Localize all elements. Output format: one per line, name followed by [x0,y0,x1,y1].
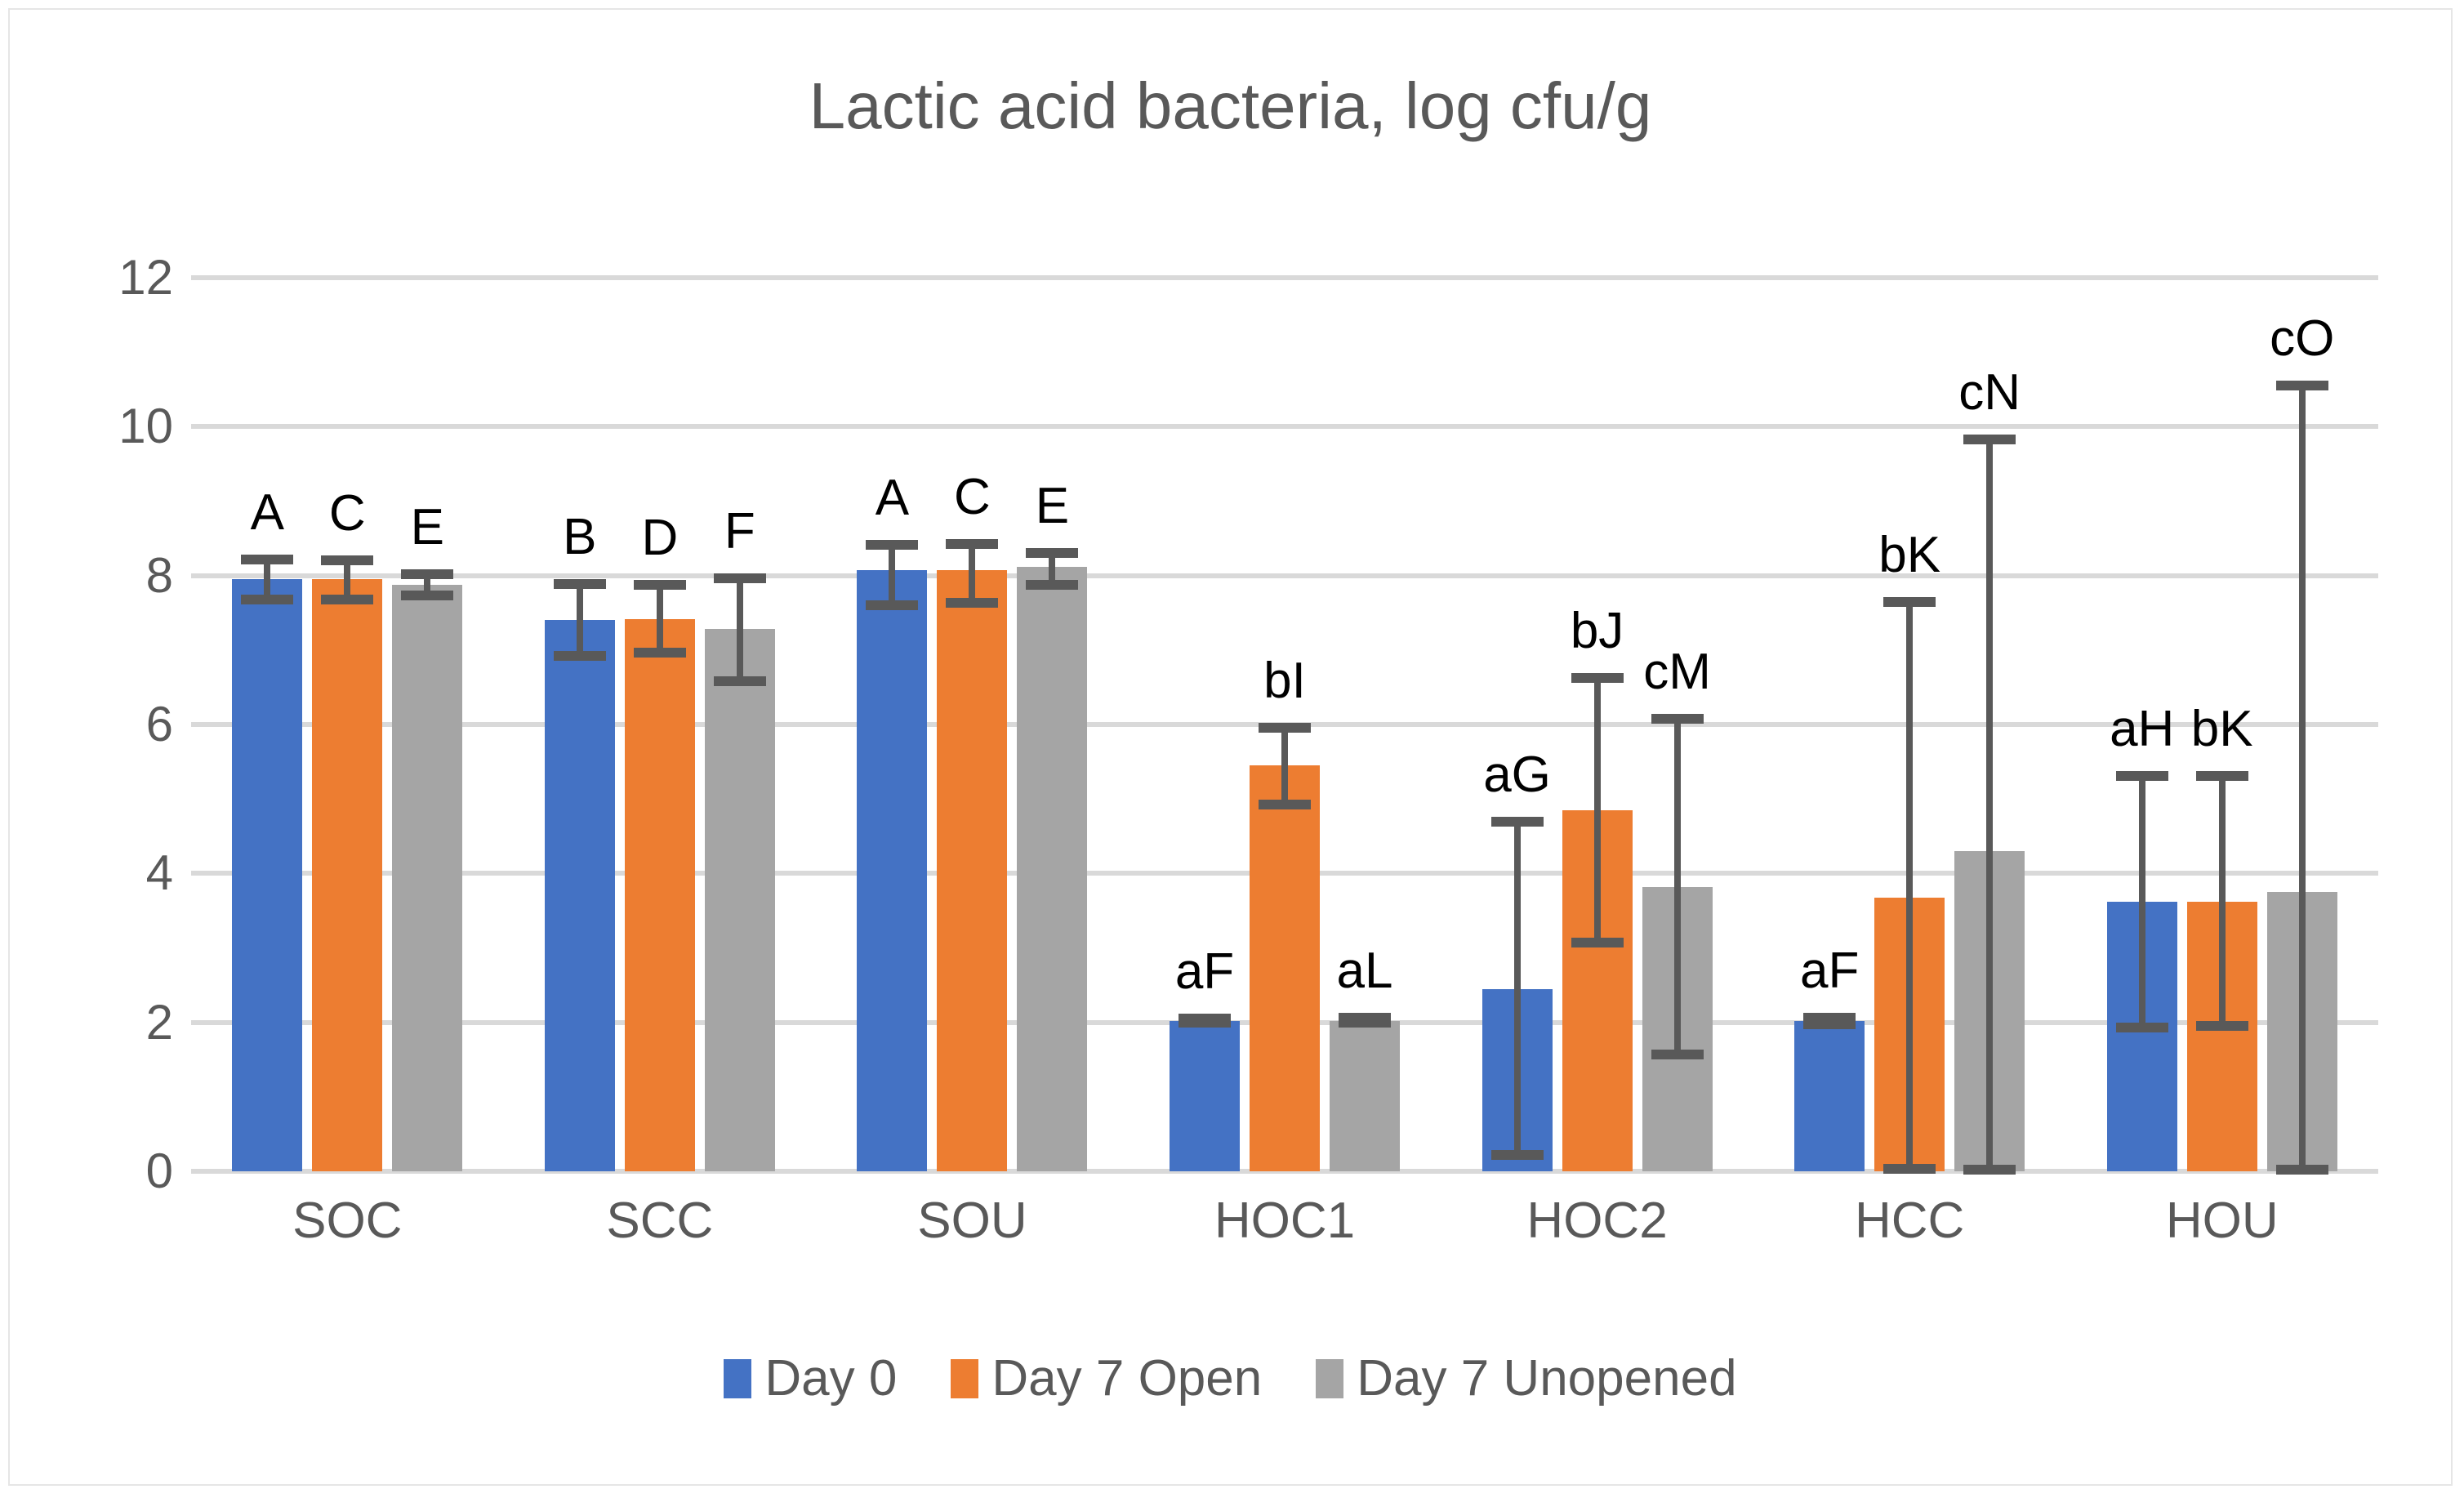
x-tick-label-HOC2: HOC2 [1526,1196,1667,1246]
error-bar-HCC-day-0 [1794,1018,1865,1171]
error-bar-SCC-day-7-unopened [705,578,775,1171]
annotation-SCC-day-7-open: D [641,513,678,564]
error-bar-stem [657,585,663,653]
x-tick-label-SCC: SCC [606,1196,713,1246]
annotation-HOU-day-0: aH [2110,704,2174,755]
error-bar-stem [1906,602,1913,1170]
error-bar-cap-upper [1963,435,2016,444]
annotation-HOC1-day-7-unopened: aL [1337,946,1393,996]
legend-item-day-0[interactable]: Day 0 [724,1353,897,1404]
error-bar-SOC-day-0 [232,560,302,1171]
y-tick-label-6: 6 [10,700,173,749]
error-bar-cap-upper [1651,714,1704,724]
error-bar-HOC1-day-7-unopened [1330,1018,1400,1171]
annotation-HOU-day-7-unopened: cO [2270,314,2334,364]
error-bar-cap-lower [2276,1165,2328,1175]
error-bar-cap-upper [2276,381,2328,390]
annotation-SOU-day-7-open: C [954,472,991,523]
legend-label: Day 7 Unopened [1357,1353,1736,1404]
error-bar-stem [969,544,975,602]
error-bar-cap-upper [946,539,998,549]
legend-swatch-icon [1316,1359,1343,1398]
y-tick-label-2: 2 [10,998,173,1047]
y-axis-labels: 024681012 [10,10,173,1507]
error-bar-stem [1281,728,1288,805]
error-bar-cap-lower [1491,1150,1544,1160]
error-bar-cap-upper [1026,548,1078,558]
error-bar-SOU-day-7-unopened [1017,553,1087,1171]
error-bar-HOU-day-0 [2107,776,2177,1171]
error-bar-cap-lower [321,595,373,604]
y-tick-label-12: 12 [10,253,173,302]
error-bar-cap-lower [1026,580,1078,590]
error-bar-SCC-day-7-open [625,585,695,1171]
annotation-SCC-day-7-unopened: F [724,506,755,557]
error-bar-cap-lower [714,676,766,686]
error-bar-cap-upper [634,580,686,590]
x-tick-label-HOU: HOU [2166,1196,2279,1246]
error-bar-stem [2299,386,2306,1170]
chart-title: Lactic acid bacteria, log cfu/g [10,69,2451,144]
error-bar-stem [1594,678,1601,943]
error-bar-cap-lower [2116,1023,2168,1032]
y-tick-label-10: 10 [10,402,173,451]
error-bar-cap-lower [1339,1018,1391,1028]
error-bar-cap-upper [714,573,766,583]
error-bar-cap-lower [1651,1050,1704,1059]
chart-container: Lactic acid bacteria, log cfu/g 02468101… [8,8,2453,1486]
annotation-SOU-day-7-unopened: E [1036,481,1069,532]
legend-label: Day 0 [764,1353,897,1404]
error-bar-HOC1-day-7-open [1250,728,1320,1171]
y-tick-label-0: 0 [10,1147,173,1196]
error-bar-stem [737,578,743,681]
error-bar-cap-upper [241,555,293,564]
error-bar-cap-upper [554,579,606,589]
gridline-10 [191,424,2378,429]
annotation-SOC-day-7-unopened: E [411,502,444,553]
error-bar-cap-upper [401,569,453,579]
error-bar-cap-upper [1491,817,1544,827]
annotation-HOC2-day-0: aG [1483,750,1551,800]
error-bar-SOC-day-7-unopened [392,574,462,1171]
x-tick-label-SOC: SOC [292,1196,402,1246]
error-bar-HOC2-day-7-open [1562,678,1633,1171]
annotation-HOU-day-7-open: bK [2191,704,2253,755]
error-bar-stem [1514,822,1521,1155]
annotation-HCC-day-7-unopened: cN [1958,368,2021,418]
error-bar-cap-lower [1259,800,1311,809]
annotation-HCC-day-0: aF [1800,946,1859,996]
error-bar-stem [344,560,350,599]
annotation-HOC1-day-0: aF [1175,947,1234,997]
error-bar-HCC-day-7-open [1874,602,1945,1171]
annotation-HOC2-day-7-open: bJ [1571,606,1624,657]
error-bar-cap-upper [1259,723,1311,733]
error-bar-HOC1-day-0 [1170,1019,1240,1171]
error-bar-cap-upper [2116,771,2168,781]
error-bar-cap-lower [1179,1018,1231,1028]
error-bar-HOC2-day-7-unopened [1642,719,1713,1171]
legend-swatch-icon [724,1359,751,1398]
y-tick-label-8: 8 [10,551,173,600]
y-tick-label-4: 4 [10,849,173,898]
annotation-SOC-day-7-open: C [329,488,366,539]
error-bar-stem [2219,776,2226,1026]
error-bar-cap-lower [1963,1165,2016,1175]
error-bar-cap-lower [866,600,918,610]
x-tick-label-HOC1: HOC1 [1214,1196,1355,1246]
annotation-SOC-day-0: A [251,488,284,538]
plot-area: ACEBDFACEaFbIaLaGbJcMaFbKcNaHbKcO [191,278,2378,1171]
error-bar-cap-lower [401,591,453,600]
error-bar-HOU-day-7-unopened [2267,386,2337,1171]
x-tick-label-HCC: HCC [1855,1196,1964,1246]
error-bar-SOU-day-7-open [937,544,1007,1171]
error-bar-cap-upper [1571,673,1624,683]
error-bar-cap-lower [1803,1019,1856,1029]
legend-label: Day 7 Open [991,1353,1262,1404]
error-bar-HOU-day-7-open [2187,776,2257,1171]
error-bar-SOU-day-0 [857,545,927,1171]
x-axis-labels: SOCSCCSOUHOC1HOC2HCCHOU [191,1196,2378,1269]
gridline-8 [191,573,2378,578]
annotation-HCC-day-7-open: bK [1878,530,1940,581]
error-bar-stem [1674,719,1681,1054]
annotation-SOU-day-0: A [876,473,909,524]
error-bar-cap-lower [946,598,998,608]
error-bar-stem [264,560,270,600]
error-bar-HOC2-day-0 [1482,822,1553,1171]
error-bar-SCC-day-0 [545,584,615,1171]
error-bar-cap-lower [1571,938,1624,947]
error-bar-SOC-day-7-open [312,560,382,1171]
legend-item-day-7-open[interactable]: Day 7 Open [951,1353,1262,1404]
error-bar-stem [889,545,895,605]
legend-item-day-7-unopened[interactable]: Day 7 Unopened [1316,1353,1736,1404]
error-bar-HCC-day-7-unopened [1954,439,2025,1171]
error-bar-stem [1986,439,1993,1170]
x-tick-label-SOU: SOU [917,1196,1027,1246]
chart-legend: Day 0Day 7 OpenDay 7 Unopened [10,1353,2451,1404]
gridline-12 [191,275,2378,280]
error-bar-stem [577,584,583,656]
annotation-SCC-day-0: B [563,512,596,563]
annotation-HOC1-day-7-open: bI [1263,656,1306,707]
annotation-HOC2-day-7-unopened: cM [1643,647,1711,698]
error-bar-cap-lower [1883,1164,1936,1174]
error-bar-cap-lower [634,648,686,658]
error-bar-cap-upper [866,540,918,550]
error-bar-cap-lower [241,595,293,604]
error-bar-cap-upper [321,555,373,565]
error-bar-stem [2139,776,2145,1028]
error-bar-cap-upper [2196,771,2248,781]
error-bar-cap-lower [554,651,606,661]
error-bar-cap-upper [1883,597,1936,607]
error-bar-cap-lower [2196,1021,2248,1031]
legend-swatch-icon [951,1359,978,1398]
